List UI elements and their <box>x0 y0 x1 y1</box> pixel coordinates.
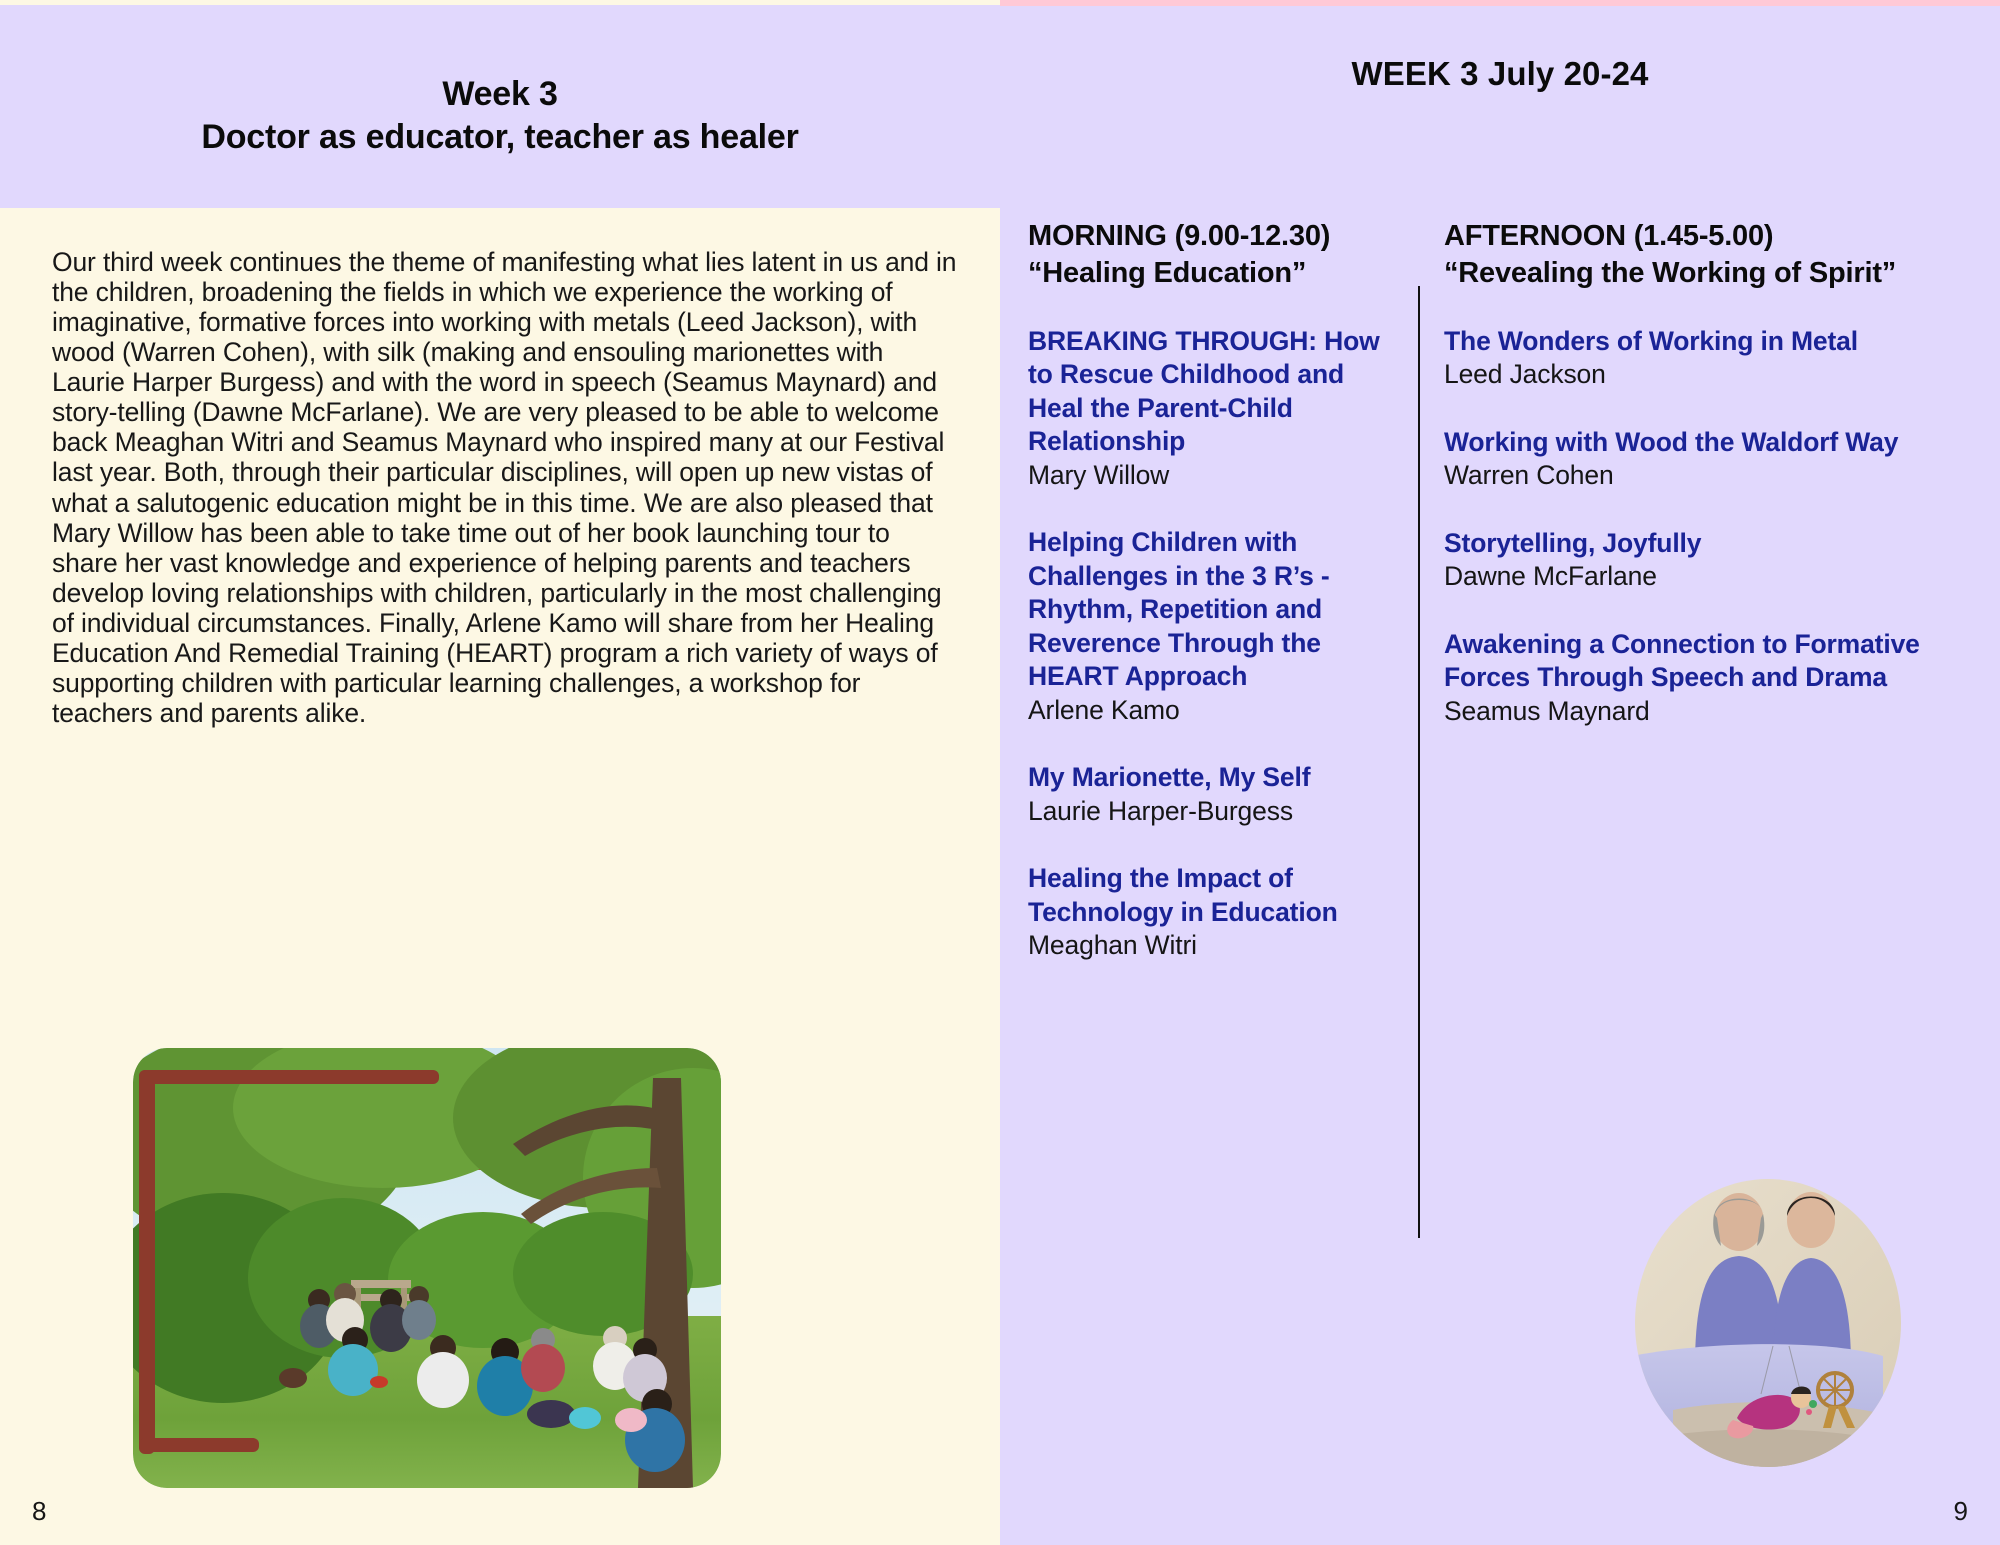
session-item[interactable]: My Marionette, My Self Laurie Harper-Bur… <box>1028 761 1404 828</box>
session-title: Helping Children with Challenges in the … <box>1028 526 1404 694</box>
right-page-header: WEEK 3 July 20-24 <box>1000 6 2000 203</box>
afternoon-time: AFTERNOON (1.45-5.00) <box>1444 218 1920 255</box>
session-item[interactable]: The Wonders of Working in Metal Leed Jac… <box>1444 325 1920 392</box>
week-description-paragraph: Our third week continues the theme of ma… <box>52 247 957 728</box>
session-presenter: Seamus Maynard <box>1444 695 1920 729</box>
afternoon-column: AFTERNOON (1.45-5.00) “Revealing the Wor… <box>1420 218 1920 1238</box>
session-presenter: Laurie Harper-Burgess <box>1028 795 1404 829</box>
schedule-columns: MORNING (9.00-12.30) “Healing Education”… <box>1028 218 1968 1238</box>
session-title: Working with Wood the Waldorf Way <box>1444 426 1920 460</box>
session-presenter: Meaghan Witri <box>1028 929 1404 963</box>
session-presenter: Warren Cohen <box>1444 459 1920 493</box>
session-item[interactable]: Working with Wood the Waldorf Way Warren… <box>1444 426 1920 493</box>
morning-column: MORNING (9.00-12.30) “Healing Education”… <box>1028 218 1418 1238</box>
week-theme-title: Doctor as educator, teacher as healer <box>201 115 798 161</box>
session-title: Awakening a Connection to Formative Forc… <box>1444 628 1920 695</box>
session-item[interactable]: Storytelling, Joyfully Dawne McFarlane <box>1444 527 1920 594</box>
page-number-right: 9 <box>1954 1496 1968 1527</box>
session-item[interactable]: Helping Children with Challenges in the … <box>1028 526 1404 727</box>
session-presenter: Mary Willow <box>1028 459 1404 493</box>
afternoon-theme: “Revealing the Working of Spirit” <box>1444 255 1920 292</box>
page-number-left: 8 <box>32 1496 46 1527</box>
morning-heading: MORNING (9.00-12.30) “Healing Education” <box>1028 218 1404 292</box>
session-title: BREAKING THROUGH: How to Rescue Childhoo… <box>1028 325 1404 459</box>
session-title: Storytelling, Joyfully <box>1444 527 1920 561</box>
left-page-header: Week 3 Doctor as educator, teacher as he… <box>0 5 1000 203</box>
session-presenter: Dawne McFarlane <box>1444 560 1920 594</box>
session-presenter: Arlene Kamo <box>1028 694 1404 728</box>
session-title: Healing the Impact of Technology in Educ… <box>1028 862 1404 929</box>
afternoon-heading: AFTERNOON (1.45-5.00) “Revealing the Wor… <box>1444 218 1920 292</box>
session-presenter: Leed Jackson <box>1444 358 1920 392</box>
session-title: My Marionette, My Self <box>1028 761 1404 795</box>
session-title: The Wonders of Working in Metal <box>1444 325 1920 359</box>
session-item[interactable]: Awakening a Connection to Formative Forc… <box>1444 628 1920 729</box>
session-item[interactable]: BREAKING THROUGH: How to Rescue Childhoo… <box>1028 325 1404 493</box>
week-date-title: WEEK 3 July 20-24 <box>1352 55 1649 93</box>
session-item[interactable]: Healing the Impact of Technology in Educ… <box>1028 862 1404 963</box>
morning-time: MORNING (9.00-12.30) <box>1028 218 1404 255</box>
brochure-spread: Week 3 Doctor as educator, teacher as he… <box>0 0 2000 1545</box>
marionette-workshop-photo <box>1633 1178 1903 1468</box>
week-label: Week 3 <box>442 73 557 116</box>
garden-group-photo <box>133 1048 721 1488</box>
morning-theme: “Healing Education” <box>1028 255 1404 292</box>
